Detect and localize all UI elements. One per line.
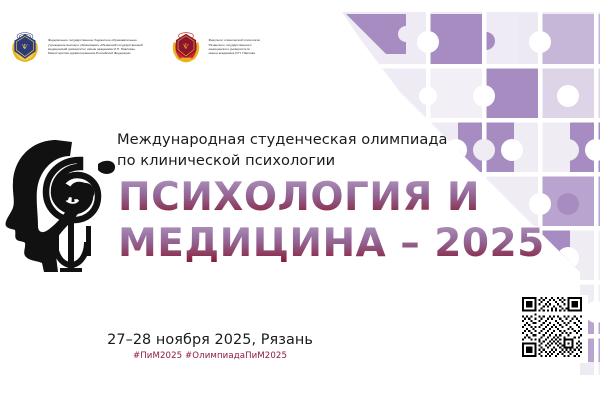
logo-line: Федеральное государственное бюджетное об… [48, 38, 143, 42]
logo-block-university: Ѱ Федеральное государственное бюджетное … [8, 30, 143, 64]
event-date-location: 27–28 ноября 2025, Рязань [100, 332, 320, 348]
logo-line: имени академика И.П. Павлова [209, 51, 261, 55]
logo-text-university: Федеральное государственное бюджетное об… [48, 38, 143, 56]
institution-logos: Ѱ Федеральное государственное бюджетное … [8, 30, 260, 64]
headline-line-1: ПСИХОЛОГИЯ И [118, 175, 545, 221]
woman-head-profile-with-spiral-butterfly-and-psi-icon [0, 130, 118, 272]
headline-line-2: МЕДИЦИНА – 2025 [118, 221, 545, 267]
qr-code[interactable] [520, 295, 588, 363]
svg-text:Ѱ: Ѱ [183, 43, 189, 51]
svg-text:Ѱ: Ѱ [22, 43, 29, 51]
logo-line: Министерства здравоохранения Российской … [48, 51, 143, 55]
event-hashtags: #ПиМ2025 #ОлимпиадаПиМ2025 [100, 351, 320, 361]
subtitle-line-2: по клинической психологии [117, 151, 487, 172]
ryazan-state-medical-university-emblem-icon: Ѱ [8, 30, 42, 64]
event-date-block: 27–28 ноября 2025, Рязань #ПиМ2025 #Олим… [100, 332, 320, 361]
event-subtitle: Международная студенческая олимпиада по … [117, 130, 487, 171]
event-headline: ПСИХОЛОГИЯ И МЕДИЦИНА – 2025 [118, 175, 545, 267]
faculty-of-clinical-psychology-emblem-icon: Ѱ [169, 30, 203, 64]
subtitle-line-1: Международная студенческая олимпиада [117, 130, 487, 151]
qr-code-svg [522, 297, 582, 357]
event-poster: Ѱ Федеральное государственное бюджетное … [0, 12, 600, 375]
logo-text-faculty: Факультет клинической психологии Рязанск… [209, 38, 261, 56]
logo-line: Факультет клинической психологии [209, 38, 261, 42]
logo-block-faculty: Ѱ Факультет клинической психологии Рязан… [169, 30, 261, 64]
